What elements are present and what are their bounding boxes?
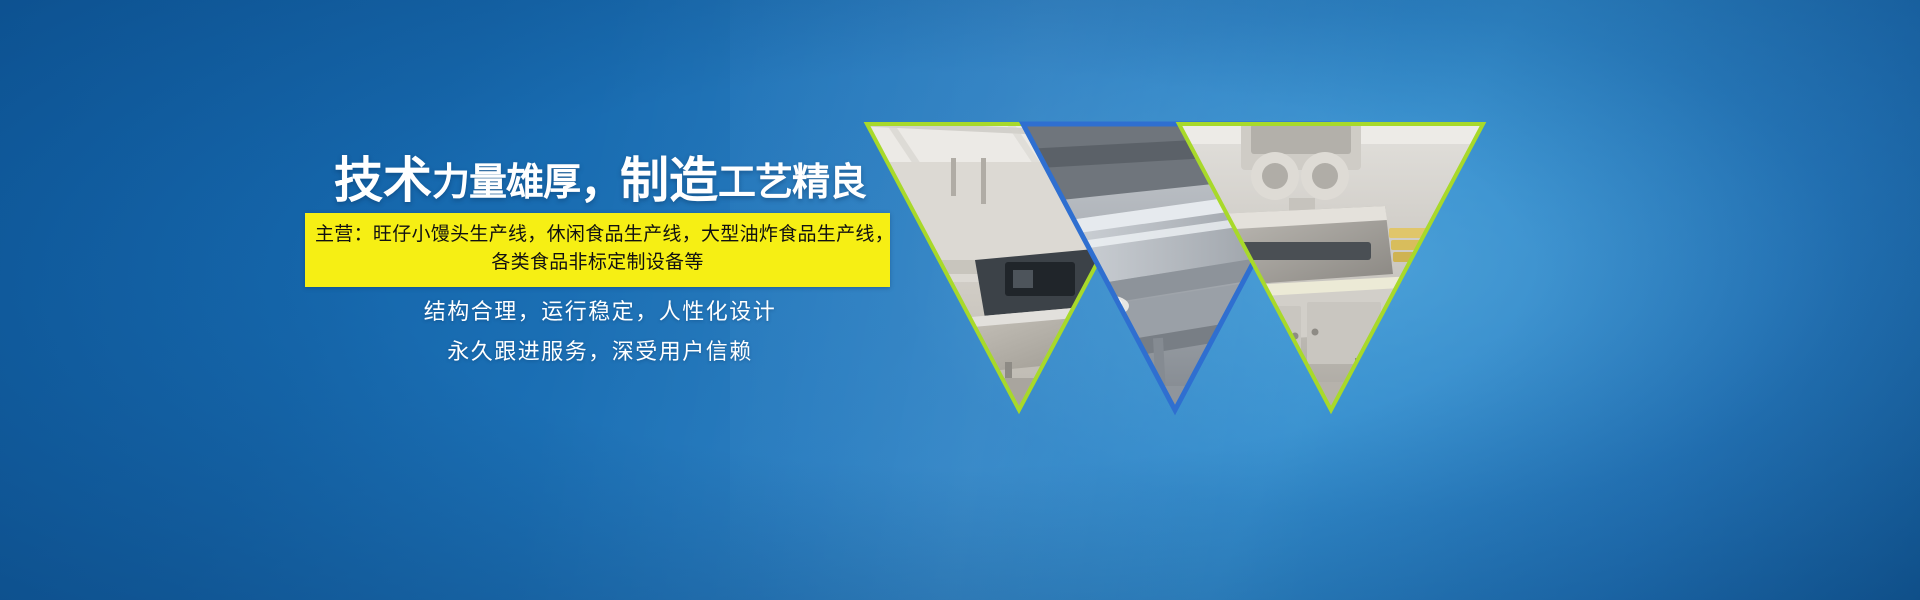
headline-segment-1: 技术 — [334, 154, 432, 208]
highlight-box: 主营：旺仔小馒头生产线，休闲食品生产线，大型油炸食品生产线， 各类食品非标定制设… — [305, 213, 890, 287]
headline: 技术力量雄厚，制造工艺精良 — [300, 155, 900, 211]
headline-segment-3: 制造 — [620, 154, 718, 208]
headline-segment-4: 工艺精良 — [718, 162, 866, 204]
highlight-line-2: 各类食品非标定制设备等 — [315, 249, 880, 277]
product-photo-gallery — [855, 110, 1495, 440]
banner-text-column: 技术力量雄厚，制造工艺精良 主营：旺仔小馒头生产线，休闲食品生产线，大型油炸食品… — [0, 0, 920, 600]
highlight-line-1: 主营：旺仔小馒头生产线，休闲食品生产线，大型油炸食品生产线， — [315, 221, 880, 249]
headline-comma: ， — [580, 158, 620, 207]
tagline-2: 永久跟进服务，深受用户信赖 — [300, 337, 900, 367]
tagline-1: 结构合理，运行稳定，人性化设计 — [300, 297, 900, 327]
promo-banner: 技术力量雄厚，制造工艺精良 主营：旺仔小馒头生产线，休闲食品生产线，大型油炸食品… — [0, 0, 1920, 600]
headline-segment-2: 力量雄厚 — [432, 162, 580, 204]
